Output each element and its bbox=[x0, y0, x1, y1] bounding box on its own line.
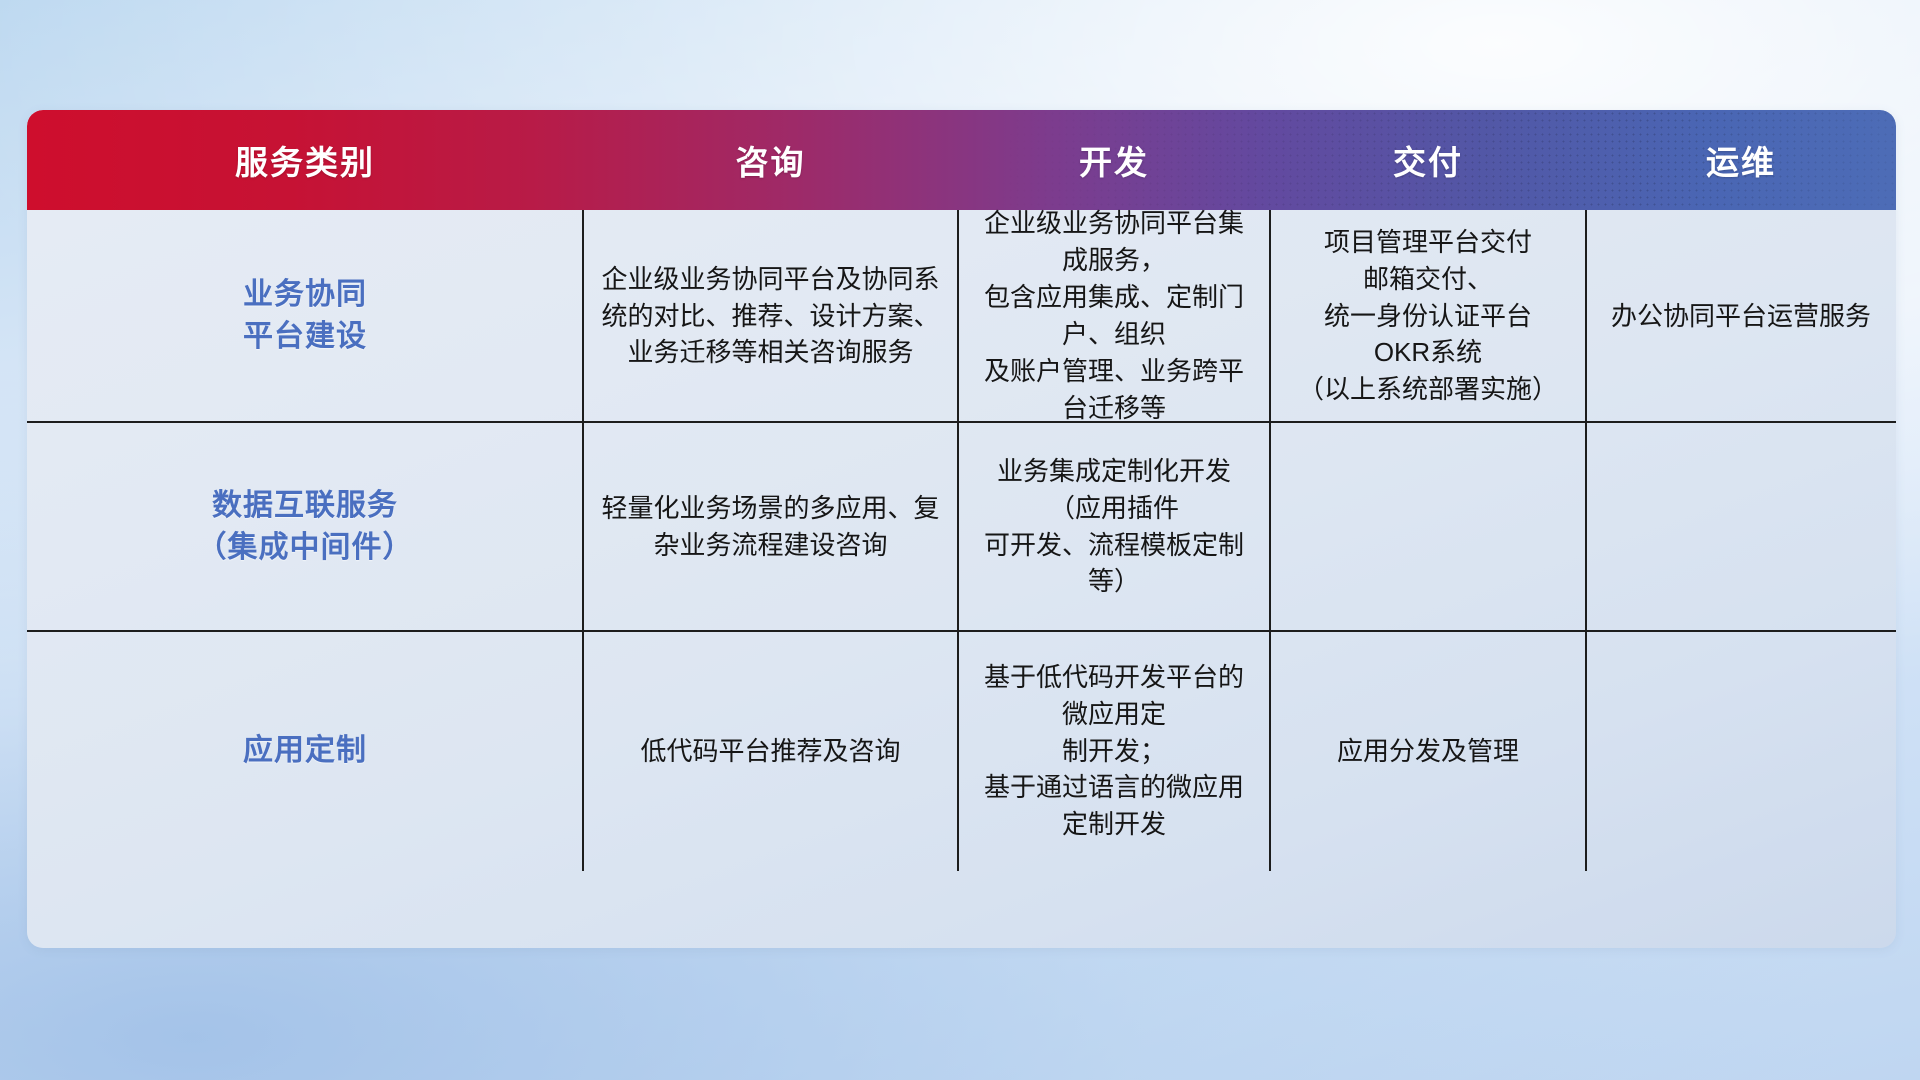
column-header-operations: 运维 bbox=[1586, 136, 1896, 184]
row-divider bbox=[27, 421, 1896, 423]
cell-consulting: 低代码平台推荐及咨询 bbox=[583, 631, 958, 871]
table-row: 业务协同 平台建设 企业级业务协同平台及协同系 统的对比、推荐、设计方案、 业务… bbox=[27, 210, 1896, 422]
column-header-development: 开发 bbox=[958, 136, 1270, 184]
cell-delivery bbox=[1270, 422, 1586, 631]
table-body: 业务协同 平台建设 企业级业务协同平台及协同系 统的对比、推荐、设计方案、 业务… bbox=[27, 210, 1896, 948]
column-divider bbox=[1585, 210, 1587, 871]
row-category-label: 应用定制 bbox=[27, 631, 583, 871]
column-header-service-category: 服务类别 bbox=[27, 136, 583, 184]
cell-operations bbox=[1586, 631, 1896, 871]
column-header-delivery: 交付 bbox=[1270, 136, 1586, 184]
cell-delivery: 项目管理平台交付 邮箱交付、 统一身份认证平台 OKR系统 （以上系统部署实施） bbox=[1270, 210, 1586, 422]
cell-development: 基于低代码开发平台的微应用定 制开发； 基于通过语言的微应用定制开发 bbox=[958, 631, 1270, 871]
cell-consulting: 轻量化业务场景的多应用、复 杂业务流程建设咨询 bbox=[583, 422, 958, 631]
table-header-row: 服务类别 咨询 开发 交付 运维 bbox=[27, 110, 1896, 210]
cell-operations bbox=[1586, 422, 1896, 631]
page-background: 服务类别 咨询 开发 交付 运维 业务协同 平台建设 企业级业务协同平台及协同系… bbox=[0, 0, 1920, 1080]
column-divider bbox=[582, 210, 584, 871]
cell-delivery: 应用分发及管理 bbox=[1270, 631, 1586, 871]
cell-consulting: 企业级业务协同平台及协同系 统的对比、推荐、设计方案、 业务迁移等相关咨询服务 bbox=[583, 210, 958, 422]
column-header-consulting: 咨询 bbox=[583, 136, 958, 184]
column-divider bbox=[1269, 210, 1271, 871]
row-divider bbox=[27, 630, 1896, 632]
cell-development: 业务集成定制化开发（应用插件 可开发、流程模板定制等） bbox=[958, 422, 1270, 631]
row-category-label: 数据互联服务 （集成中间件） bbox=[27, 422, 583, 631]
service-matrix-card: 服务类别 咨询 开发 交付 运维 业务协同 平台建设 企业级业务协同平台及协同系… bbox=[27, 110, 1896, 948]
row-category-label: 业务协同 平台建设 bbox=[27, 210, 583, 422]
cell-development: 企业级业务协同平台集成服务， 包含应用集成、定制门户、组织 及账户管理、业务跨平… bbox=[958, 210, 1270, 422]
table-row: 应用定制 低代码平台推荐及咨询 基于低代码开发平台的微应用定 制开发； 基于通过… bbox=[27, 631, 1896, 871]
cell-operations: 办公协同平台运营服务 bbox=[1586, 210, 1896, 422]
column-divider bbox=[957, 210, 959, 871]
table-row: 数据互联服务 （集成中间件） 轻量化业务场景的多应用、复 杂业务流程建设咨询 业… bbox=[27, 422, 1896, 631]
